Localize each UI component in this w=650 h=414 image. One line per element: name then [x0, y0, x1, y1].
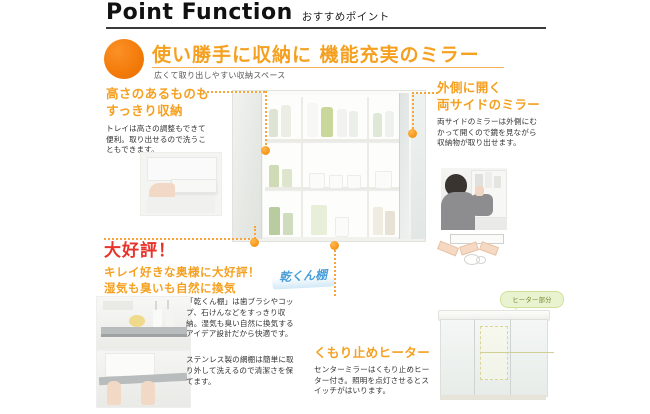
leader-line — [412, 92, 438, 94]
woman-at-mirror-photo — [441, 168, 507, 230]
product-item — [349, 111, 358, 137]
leader-line — [104, 238, 254, 240]
callout-body: ステンレス製の網棚は簡単に取り外して洗えるので清潔さを保てます。 — [186, 355, 298, 387]
callout-heading-line2: 両サイドのミラー — [437, 97, 543, 114]
callout-heading-line2: すっきり収納 — [106, 103, 210, 120]
callout-heading: 外側に開く 両サイドのミラー — [437, 80, 543, 114]
product-item — [375, 171, 392, 189]
product-item — [269, 207, 280, 235]
product-item — [329, 175, 343, 189]
shelf-photo-top — [96, 296, 191, 350]
brochure-page: Point Function おすすめポイント 使い勝手に収納に 機能充実のミラ… — [0, 0, 650, 414]
section-heading: 使い勝手に収納に 機能充実のミラー 広くて取り出しやすい収納スペース — [104, 38, 524, 84]
heater-part-badge: ヒーター部分 — [500, 291, 564, 308]
cup — [153, 309, 162, 327]
heater-pointer-line — [480, 352, 554, 353]
leader-line — [265, 91, 267, 149]
tray — [171, 179, 217, 193]
shelf-photo-bottom — [96, 350, 191, 408]
tray-photo — [140, 152, 222, 216]
tray-shelf — [147, 157, 217, 181]
cabinet-left-door — [233, 93, 262, 239]
mesh-shelf — [101, 327, 187, 334]
callout-body: 両サイドのミラーは外側にむかって開くので鏡を見ながら収納物が取り出せます。 — [437, 117, 543, 149]
product-item — [311, 205, 327, 235]
callout-heading-line1: 外側に開く — [437, 80, 543, 97]
callout-heading: くもり止めヒーター — [314, 345, 432, 362]
cabinet-body — [232, 90, 426, 242]
product-item — [385, 211, 395, 235]
leader-dot — [408, 129, 417, 138]
product-item — [373, 113, 382, 137]
product-item — [282, 169, 292, 187]
kankun-dana-logo: 乾くん棚 — [271, 260, 334, 289]
product-item — [281, 105, 291, 137]
reflection-item — [494, 176, 501, 188]
page-subtitle: おすすめポイント — [302, 12, 390, 25]
cabinet-interior — [105, 353, 155, 377]
leader-dot — [261, 146, 270, 155]
product-item — [347, 175, 361, 189]
callout-heading: 高さのあるものも すっきり収納 — [106, 86, 210, 120]
cup — [165, 307, 174, 327]
page-title: Point Function — [106, 2, 293, 24]
hand — [141, 381, 155, 405]
callout-kankun-body2: ステンレス製の網棚は簡単に取り外して洗えるので清潔さを保てます。 — [186, 355, 298, 387]
door-seam — [510, 319, 511, 395]
leader-line — [412, 92, 414, 132]
hand — [107, 381, 121, 405]
callout-kankun-body1: 「乾くん棚」は歯ブラシやコップ、石けんなどをすっきり収納。湿気も臭い自然に換気す… — [186, 297, 298, 340]
callout-body: センターミラーはくもり止めヒーター付き。照明を点灯させるとスイッチがはいります。 — [314, 365, 432, 397]
shelf-divider — [367, 97, 369, 237]
product-item — [385, 111, 394, 137]
reflection-item — [485, 172, 492, 188]
toothbrush — [167, 300, 169, 309]
leader-dot — [330, 241, 339, 250]
mirror-open-diagram — [436, 232, 518, 266]
product-item — [321, 107, 333, 137]
bullet-circle-icon — [104, 39, 144, 79]
product-item — [335, 217, 349, 237]
arm — [471, 194, 493, 216]
leader-line — [334, 246, 336, 296]
section-heading-title: 使い勝手に収納に 機能充実のミラー — [152, 40, 480, 67]
toothbrush — [155, 301, 157, 310]
product-item — [373, 207, 383, 235]
shoulders — [441, 192, 475, 230]
tray-shelf-lower — [147, 197, 215, 213]
soap — [129, 315, 145, 327]
callout-side-mirror: 外側に開く 両サイドのミラー 両サイドのミラーは外側にむかって開くので鏡を見なが… — [437, 80, 543, 149]
product-item — [269, 109, 278, 137]
section-heading-rule — [152, 67, 504, 68]
cabinet-interior — [263, 95, 405, 237]
callout-body: 「乾くん棚」は歯ブラシやコップ、石けんなどをすっきり収納。湿気も臭い自然に換気す… — [186, 297, 298, 340]
callout-heading-line1: 高さのあるものも — [106, 86, 210, 103]
shelf-divider — [301, 97, 303, 237]
door-seam — [474, 319, 475, 395]
product-item — [307, 103, 318, 137]
mesh-shelf-edge — [101, 334, 187, 337]
cabinet-right-door — [399, 93, 409, 239]
callout-height-storage: 高さのあるものも すっきり収納 トレイは高さの調整もできて便利。取り出せるので洗… — [106, 86, 210, 156]
product-item — [309, 173, 325, 189]
shelf-top-edge — [103, 301, 133, 310]
page-header: Point Function おすすめポイント — [106, 2, 546, 24]
header-divider — [106, 27, 546, 29]
mirror-cabinet-product-photo — [434, 300, 568, 408]
leader-line — [203, 91, 265, 93]
popular-title: 大好評！ — [104, 242, 304, 261]
hand — [475, 186, 484, 196]
shelf — [265, 139, 403, 142]
callout-heater: くもり止めヒーター センターミラーはくもり止めヒーター付き。照明を点灯させるとス… — [314, 345, 432, 397]
product-item — [283, 213, 293, 235]
diagram-person-head — [476, 256, 486, 264]
product-item — [337, 109, 347, 137]
section-heading-subtitle: 広くて取り出しやすい収納スペース — [154, 70, 286, 81]
heater-area — [480, 326, 508, 380]
cabinet-base — [440, 395, 546, 400]
product-item — [269, 165, 279, 187]
diagram-cabinet — [450, 234, 504, 244]
